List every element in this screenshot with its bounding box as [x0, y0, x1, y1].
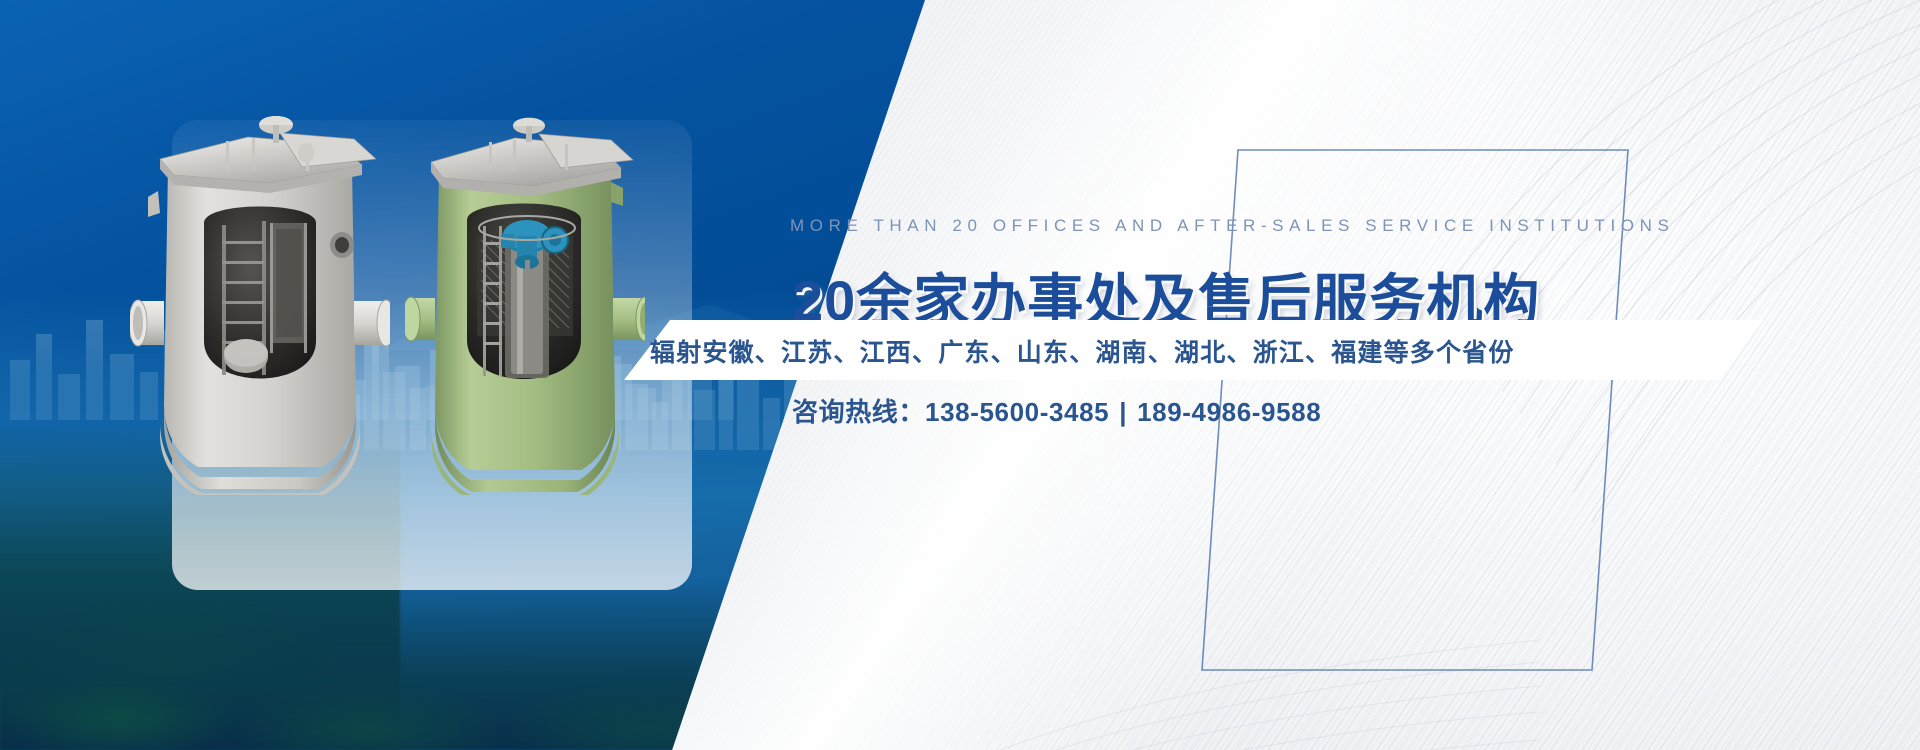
- hotline-primary[interactable]: 138-5600-3485: [925, 397, 1109, 427]
- coverage-strip-text: 辐射安徽、江苏、江西、广东、山东、湖南、湖北、浙江、福建等多个省份: [650, 333, 1515, 369]
- english-subtitle: MORE THAN 20 OFFICES AND AFTER-SALES SER…: [790, 216, 1674, 236]
- green-pump-station-icon: [405, 110, 645, 495]
- hotline-secondary[interactable]: 189-4986-9588: [1137, 397, 1321, 427]
- promo-banner: MORE THAN 20 OFFICES AND AFTER-SALES SER…: [0, 0, 1920, 750]
- hotline-row: 咨询热线：138-5600-3485|189-4986-9588: [792, 392, 1321, 429]
- hotline-separator: |: [1109, 397, 1137, 427]
- hotline-label: 咨询热线：: [792, 397, 925, 427]
- grey-pump-station-icon: [130, 105, 390, 495]
